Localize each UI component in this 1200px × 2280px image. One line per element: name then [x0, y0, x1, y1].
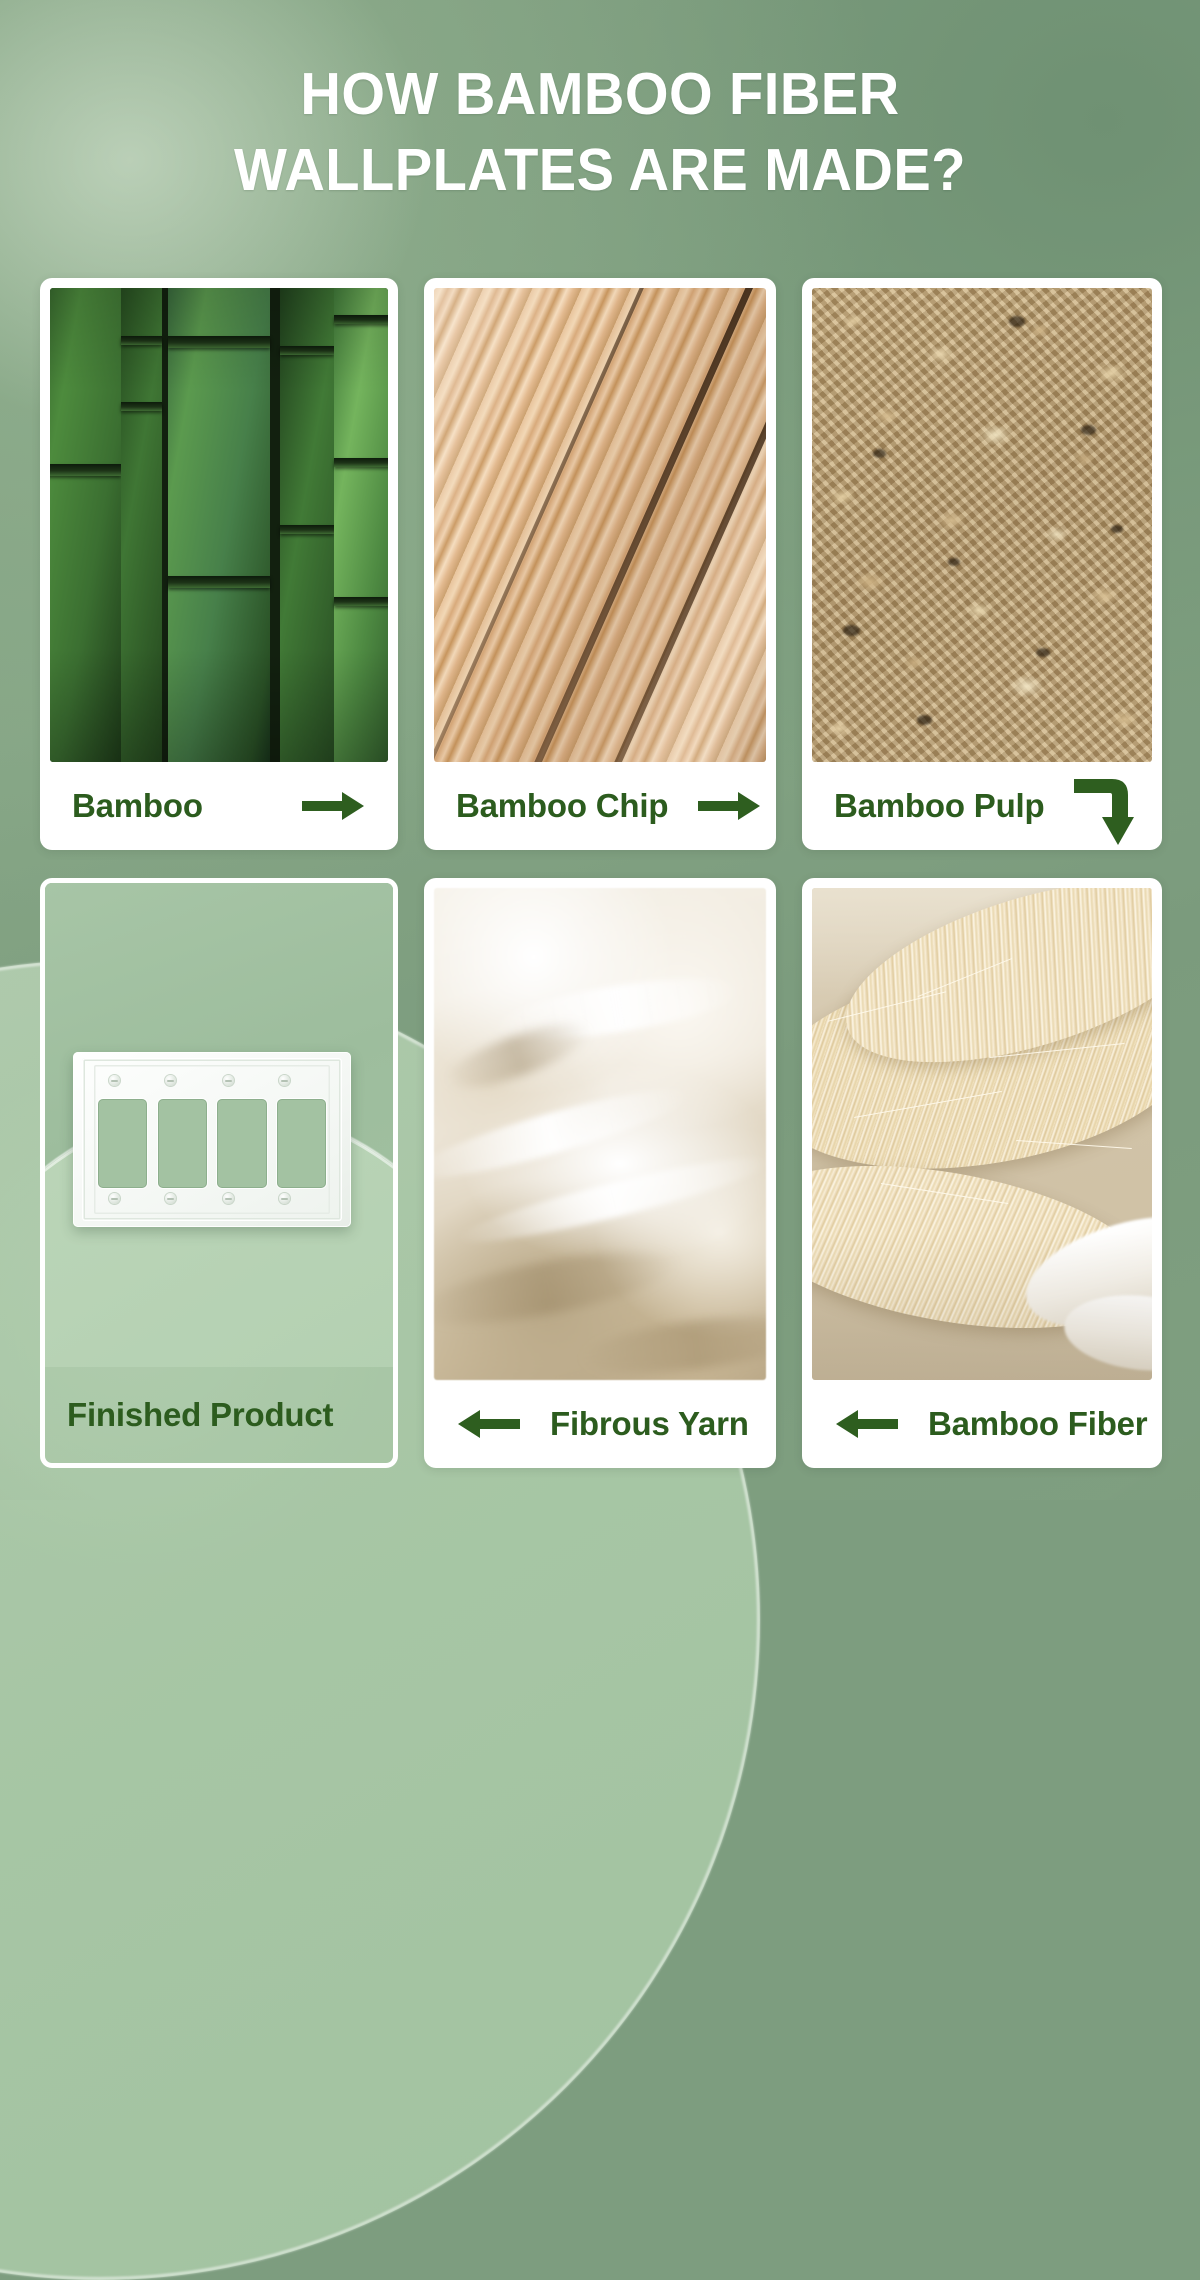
page-title: HOW BAMBOO FIBER WALLPLATES ARE MADE?	[30, 56, 1170, 208]
wallplate-openings	[98, 1099, 326, 1188]
step-card-bamboo-fiber[interactable]: Bamboo Fiber	[802, 878, 1162, 1468]
page-title-line-2: WALLPLATES ARE MADE?	[234, 137, 966, 203]
bamboo-pulp-photo	[812, 288, 1152, 762]
caption-bamboo-chip: Bamboo Chip	[434, 762, 766, 850]
caption-bamboo-pulp: Bamboo Pulp	[812, 762, 1152, 850]
arrow-right-icon	[696, 788, 762, 824]
step-label-bamboo-fiber: Bamboo Fiber	[928, 1405, 1147, 1443]
finished-wallplate-photo	[45, 883, 393, 1367]
step-card-bamboo[interactable]: Bamboo	[40, 278, 398, 850]
arrow-left-icon	[834, 1406, 900, 1442]
step-card-bamboo-chip[interactable]: Bamboo Chip	[424, 278, 776, 850]
wallplate-screw	[165, 1193, 176, 1204]
bamboo-fiber-photo	[812, 888, 1152, 1380]
wallplate-4gang	[73, 1052, 351, 1226]
caption-fibrous-yarn: Fibrous Yarn	[434, 1380, 766, 1468]
step-label-bamboo-pulp: Bamboo Pulp	[834, 787, 1044, 825]
wallplate-opening	[277, 1099, 326, 1188]
caption-bamboo: Bamboo	[50, 762, 388, 850]
fibrous-yarn-photo	[434, 888, 766, 1380]
wallplate-opening	[217, 1099, 266, 1188]
page-title-line-1: HOW BAMBOO FIBER	[300, 61, 899, 127]
caption-bamboo-fiber: Bamboo Fiber	[812, 1380, 1152, 1468]
wallplate-opening	[98, 1099, 147, 1188]
bamboo-chips-photo	[434, 288, 766, 762]
wallplate-screw	[109, 1193, 120, 1204]
wallplate-screw	[109, 1075, 120, 1086]
step-card-fibrous-yarn[interactable]: Fibrous Yarn	[424, 878, 776, 1468]
step-label-bamboo-chip: Bamboo Chip	[456, 787, 668, 825]
step-card-finished-product[interactable]: Finished Product	[40, 878, 398, 1468]
step-card-bamboo-pulp[interactable]: Bamboo Pulp	[802, 278, 1162, 850]
wallplate-opening	[158, 1099, 207, 1188]
process-step-grid: Bamboo Bamboo Chip	[40, 278, 1168, 1468]
bamboo-stalks-photo	[50, 288, 388, 762]
wallplate-screw	[279, 1193, 290, 1204]
arrow-left-icon	[456, 1406, 522, 1442]
wallplate-screw	[279, 1075, 290, 1086]
step-label-bamboo: Bamboo	[72, 787, 203, 825]
arrow-elbow-down-icon	[1072, 775, 1134, 849]
caption-finished-product: Finished Product	[45, 1367, 393, 1463]
step-label-fibrous-yarn: Fibrous Yarn	[550, 1405, 749, 1443]
step-label-finished-product: Finished Product	[67, 1396, 333, 1434]
arrow-right-icon	[300, 788, 366, 824]
wallplate-screw	[165, 1075, 176, 1086]
